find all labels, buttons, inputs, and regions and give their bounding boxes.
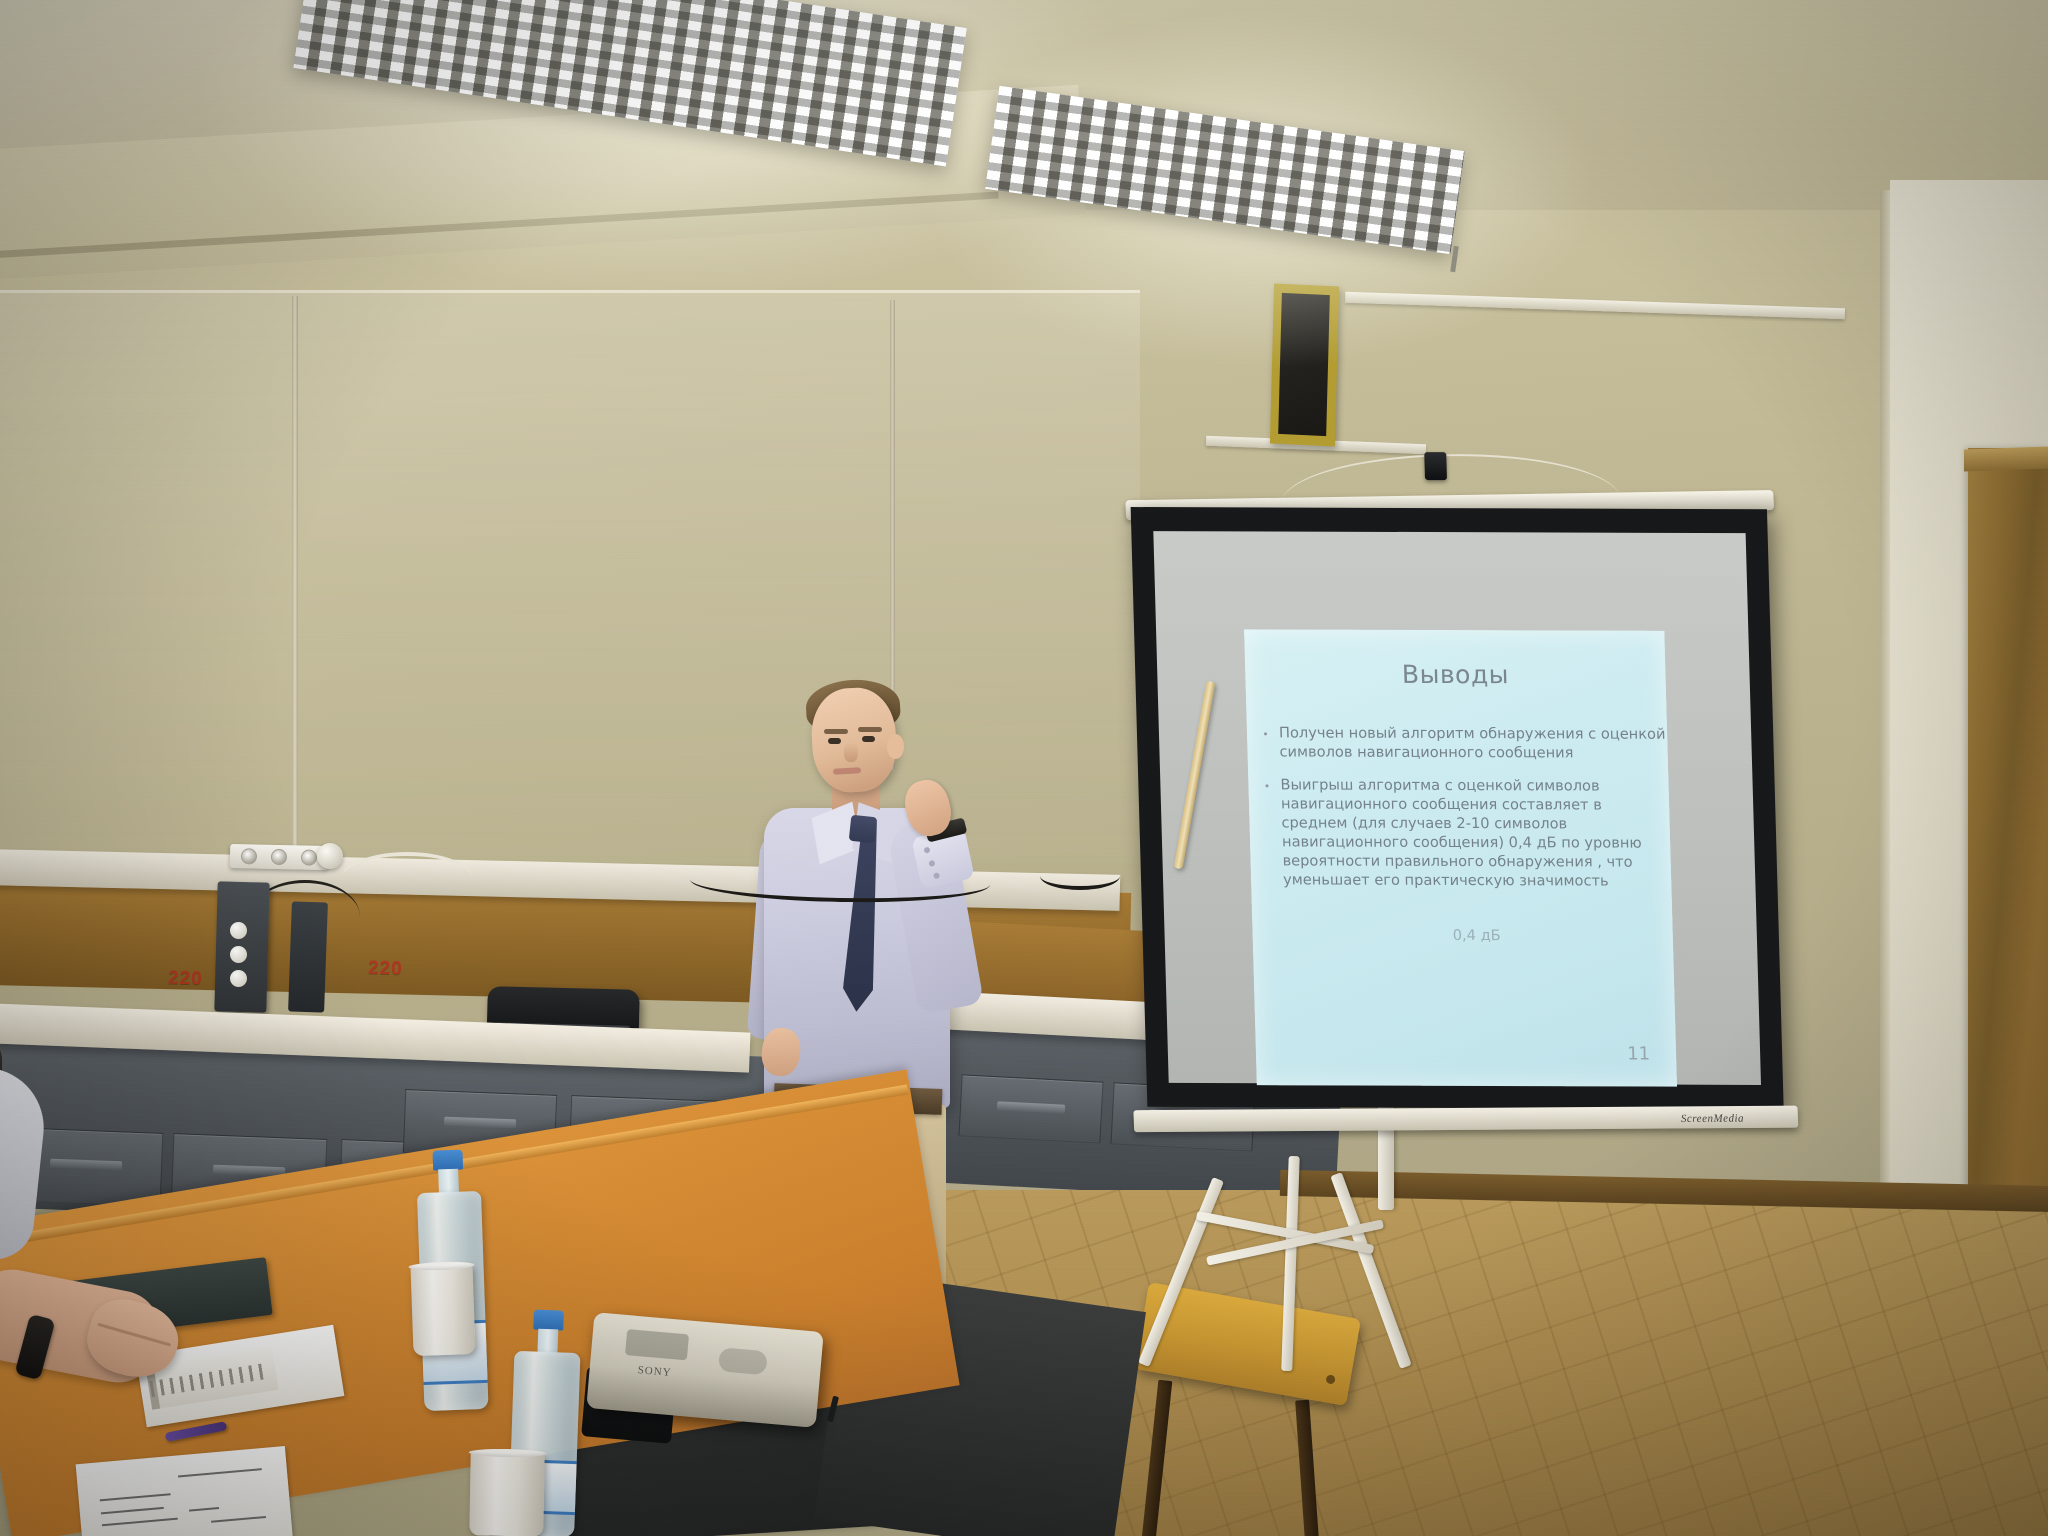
voltage-label: 220	[368, 958, 403, 981]
projection-screen: Выводы Получен новый алгоритм обнаружени…	[1131, 507, 1786, 1169]
power-socket[interactable]	[241, 848, 257, 864]
tripod-leg	[1281, 1156, 1299, 1371]
presenter-eyebrow	[824, 729, 848, 734]
slide-bullet: Получен новый алгоритм обнаружения с оце…	[1261, 724, 1668, 763]
slide-bullet: Выигрыш алгоритма с оценкой символов нав…	[1262, 776, 1671, 891]
text-line	[102, 1517, 177, 1526]
text-line	[211, 1516, 266, 1523]
screen-surface: Выводы Получен новый алгоритм обнаружени…	[1153, 531, 1761, 1085]
bottle-cap[interactable]	[432, 1150, 463, 1171]
lab-equipment-unit	[288, 901, 328, 1012]
wall-seam-left	[292, 296, 298, 856]
text-line	[178, 1468, 262, 1477]
presenter-eye	[862, 736, 875, 742]
presenter-head	[809, 686, 898, 794]
power-plug[interactable]	[317, 843, 343, 869]
equipment-knobs[interactable]	[230, 918, 248, 990]
screen-brand-label: ScreenMedia	[1681, 1113, 1745, 1125]
presenter-eyebrow	[858, 727, 882, 732]
door-header	[1964, 447, 2048, 472]
wall-panel-framed	[1270, 283, 1339, 446]
paper-cup[interactable]	[410, 1264, 475, 1356]
slide-title: Выводы	[1245, 659, 1666, 689]
screen-hook	[1424, 452, 1447, 480]
drawer-handle[interactable]	[444, 1116, 516, 1128]
knob[interactable]	[230, 946, 247, 963]
slide: Выводы Получен новый алгоритм обнаружени…	[1244, 629, 1677, 1086]
drawer-handle[interactable]	[50, 1158, 122, 1170]
slide-overlay-fragment: 0,4 дБ	[1452, 927, 1500, 944]
text-line	[100, 1494, 171, 1502]
knob[interactable]	[230, 970, 247, 987]
drawer-handle[interactable]	[997, 1101, 1065, 1114]
slide-bullet-list: Получен новый алгоритм обнаружения с оце…	[1261, 724, 1672, 891]
cuff-button	[928, 860, 935, 867]
power-socket[interactable]	[271, 849, 287, 865]
presenter-ear	[887, 734, 904, 759]
power-socket[interactable]	[301, 849, 317, 865]
projector[interactable]: SONY	[586, 1312, 823, 1428]
screen-tripod	[1215, 1150, 1505, 1400]
projector-brand-label: SONY	[637, 1364, 672, 1379]
presenter-nose	[844, 742, 858, 762]
cuff-button	[923, 847, 930, 854]
tripod-leg	[1330, 1172, 1411, 1369]
power-strip[interactable]	[230, 844, 328, 870]
knob[interactable]	[230, 922, 247, 939]
power-cable-white	[342, 852, 472, 904]
text-line	[101, 1506, 164, 1513]
projector-vent	[718, 1347, 768, 1375]
voltage-label: 220	[168, 968, 203, 991]
signal-cable	[1040, 862, 1120, 890]
wall-panel-dark-face	[1278, 293, 1330, 436]
presenter-tie-knot	[849, 815, 878, 844]
presenter-eye	[828, 738, 841, 744]
projector-vent	[625, 1329, 689, 1360]
classroom-photo-scene: 220 220 220	[0, 0, 2048, 1536]
slide-page-number: 11	[1627, 1043, 1651, 1064]
screen-black-border: Выводы Получен новый алгоритм обнаружени…	[1131, 507, 1784, 1109]
paper-cup[interactable]	[469, 1451, 544, 1536]
bottle-cap[interactable]	[533, 1310, 564, 1331]
text-line	[189, 1507, 218, 1512]
